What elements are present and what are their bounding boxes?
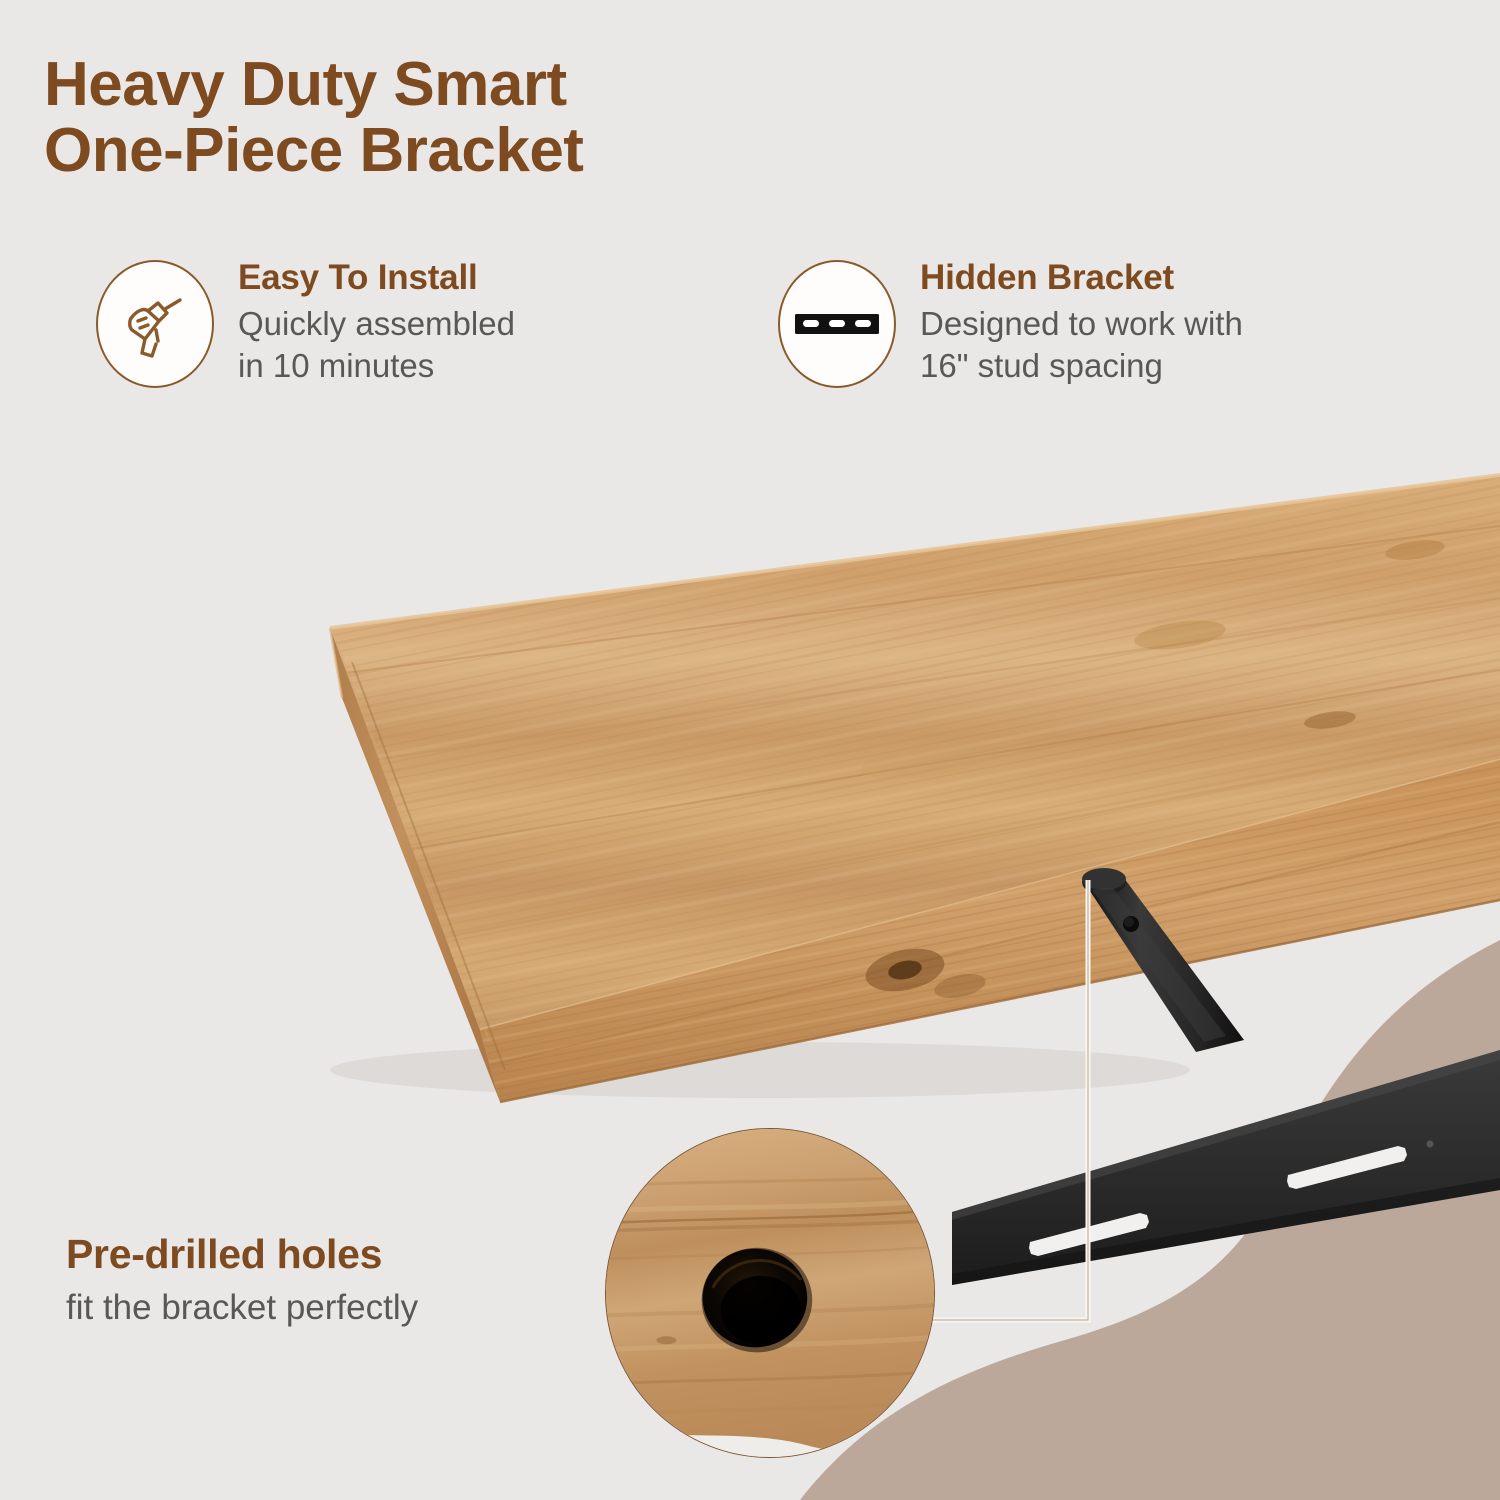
feature-title: Hidden Bracket bbox=[920, 258, 1243, 297]
bracket-bar-icon bbox=[795, 309, 879, 339]
feature-body: Designed to work with 16" stud spacing bbox=[920, 303, 1243, 386]
feature-title: Easy To Install bbox=[238, 258, 515, 297]
infographic-canvas: Heavy Duty Smart One-Piece Bracket bbox=[0, 0, 1500, 1500]
caption-title: Pre-drilled holes bbox=[66, 1232, 586, 1277]
feature-hidden-bracket: Hidden Bracket Designed to work with 16"… bbox=[778, 254, 1378, 388]
hole-closeup-image bbox=[605, 1128, 935, 1458]
page-title-line1: Heavy Duty Smart bbox=[44, 50, 567, 119]
page-title: Heavy Duty Smart One-Piece Bracket bbox=[44, 52, 944, 183]
feature-icon-badge bbox=[778, 260, 896, 388]
feature-list: Easy To Install Quickly assembled in 10 … bbox=[96, 254, 1456, 388]
feature-easy-to-install: Easy To Install Quickly assembled in 10 … bbox=[96, 254, 696, 388]
pre-drilled-hole-magnifier bbox=[605, 1128, 935, 1458]
page-title-line2: One-Piece Bracket bbox=[44, 118, 944, 184]
caption-subtitle: fit the bracket perfectly bbox=[66, 1287, 586, 1328]
feature-text: Hidden Bracket Designed to work with 16"… bbox=[920, 254, 1243, 386]
predrilled-holes-caption: Pre-drilled holes fit the bracket perfec… bbox=[66, 1232, 586, 1328]
feature-body: Quickly assembled in 10 minutes bbox=[238, 303, 515, 386]
drill-icon bbox=[118, 287, 192, 361]
feature-text: Easy To Install Quickly assembled in 10 … bbox=[238, 254, 515, 386]
feature-icon-badge bbox=[96, 260, 214, 388]
